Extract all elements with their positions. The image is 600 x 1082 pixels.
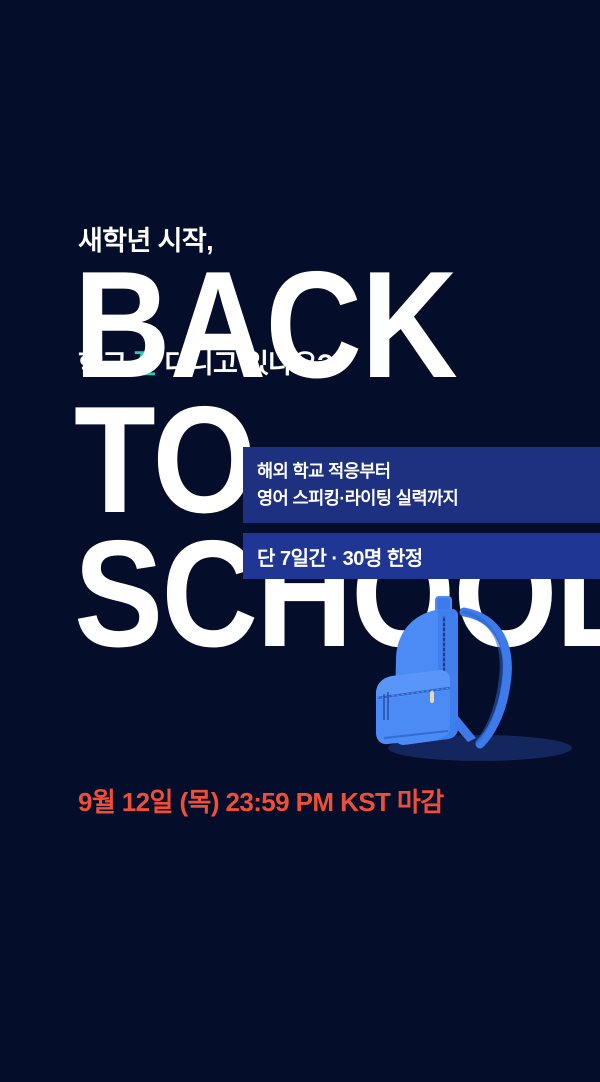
callout-limited-offer: 단 7일간 · 30명 한정 (243, 533, 600, 579)
callout-benefits: 해외 학교 적응부터 영어 스피킹·라이팅 실력까지 (243, 447, 600, 523)
callout-benefits-line-2: 영어 스피킹·라이팅 실력까지 (257, 485, 600, 512)
callout-benefits-line-1: 해외 학교 적응부터 (257, 458, 600, 485)
promo-poster: 새학년 시작, 학교 잘 다니고 있나요? BACK TO SCHOOL (0, 0, 600, 1082)
deadline-text: 9월 12일 (목) 23:59 PM KST 마감 (78, 782, 444, 819)
display-word-back: BACK (74, 258, 600, 393)
